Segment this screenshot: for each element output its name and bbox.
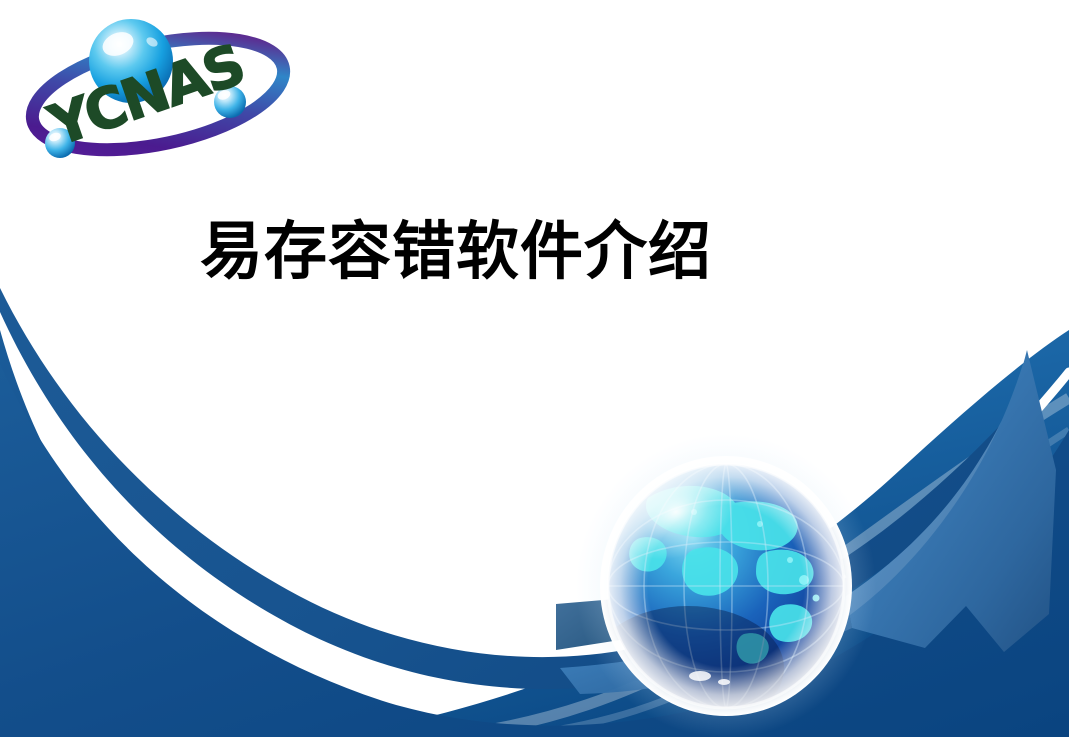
slide-title: 易存容错软件介绍 [200,206,740,298]
ycnas-logo: YCNAS [8,6,308,196]
ycnas-logo-graphic: YCNAS [8,6,308,196]
presentation-slide: YCNAS 易存容错软件介绍 [0,0,1069,737]
